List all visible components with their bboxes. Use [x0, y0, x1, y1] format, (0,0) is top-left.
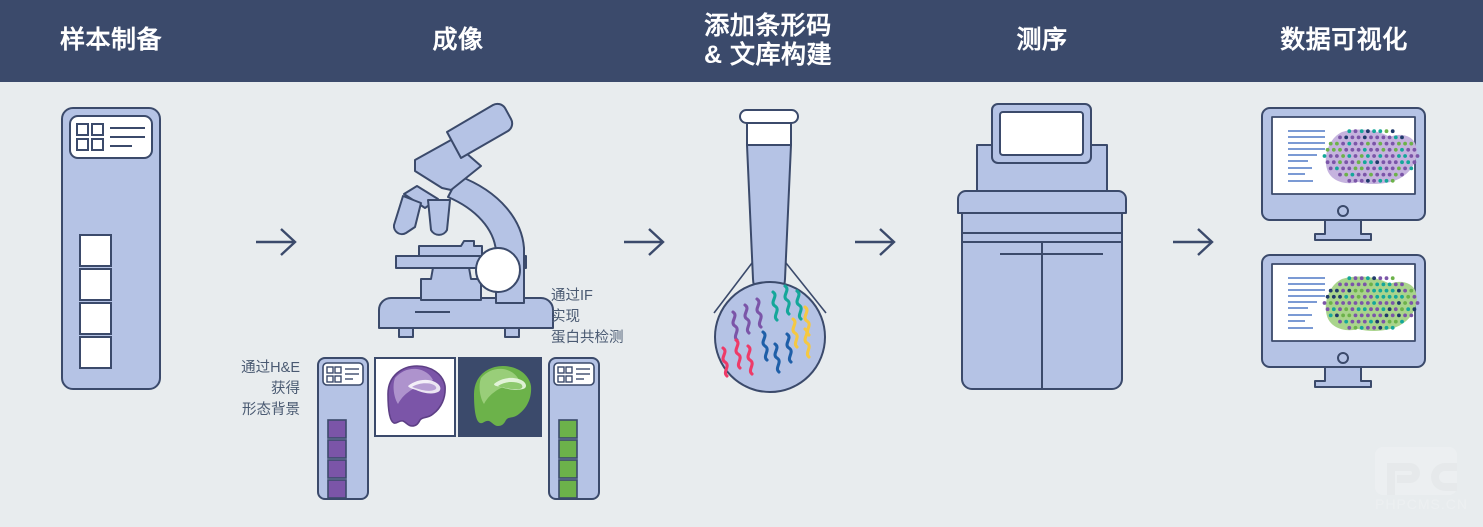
spatial-dot [1341, 154, 1345, 158]
spatial-dot [1372, 289, 1376, 293]
capture-area [80, 303, 111, 334]
spatial-dot [1354, 314, 1358, 318]
spatial-dot [1375, 148, 1379, 152]
spatial-dot [1394, 307, 1398, 311]
capture-area [328, 420, 346, 438]
spatial-dot [1338, 320, 1342, 324]
spatial-dot [1382, 283, 1386, 287]
spatial-dot [1354, 326, 1358, 330]
spatial-dot [1400, 136, 1404, 140]
spatial-dot [1413, 148, 1417, 152]
spatial-dot [1394, 173, 1398, 177]
spatial-dot [1341, 289, 1345, 293]
spatial-dot [1344, 173, 1348, 177]
spatial-dot [1335, 301, 1339, 305]
spatial-dot [1369, 295, 1373, 299]
spatial-dot [1385, 276, 1389, 280]
spatial-dot [1347, 129, 1351, 133]
spatial-dot [1354, 301, 1358, 305]
spatial-dot [1347, 167, 1351, 171]
spatial-dot [1351, 307, 1355, 311]
spatial-dot [1382, 295, 1386, 299]
spatial-dot [1409, 167, 1413, 171]
watermark-text: PHPCMS.CN [1375, 496, 1468, 512]
if-tissue-image [459, 358, 541, 436]
spatial-dot [1416, 154, 1420, 158]
spatial-dot [1354, 289, 1358, 293]
spatial-dot [1394, 283, 1398, 287]
monitor-top [1262, 108, 1425, 240]
spatial-dot [1326, 148, 1330, 152]
spatial-dot [1369, 136, 1373, 140]
spatial-dot [1375, 307, 1379, 311]
spatial-dot [1338, 160, 1342, 164]
spatial-dot [1329, 167, 1333, 171]
spatial-dot [1378, 167, 1382, 171]
spatial-dot [1409, 289, 1413, 293]
spatial-dot [1357, 320, 1361, 324]
spatial-dot [1406, 295, 1410, 299]
spatial-dot [1403, 289, 1407, 293]
spatial-dot [1366, 301, 1370, 305]
spatial-dot [1366, 167, 1370, 171]
spatial-dot [1363, 136, 1367, 140]
spatial-dot [1363, 148, 1367, 152]
spatial-dot [1378, 301, 1382, 305]
spatial-dot [1351, 136, 1355, 140]
spatial-dot [1347, 179, 1351, 183]
spatial-dot [1347, 154, 1351, 158]
arrow-4 [1173, 229, 1212, 255]
spatial-dot [1391, 289, 1395, 293]
spatial-dot [1344, 307, 1348, 311]
spatial-dot [1341, 301, 1345, 305]
spatial-dot [1382, 307, 1386, 311]
spatial-dot [1369, 148, 1373, 152]
spatial-dot [1329, 142, 1333, 146]
spatial-dot [1323, 301, 1327, 305]
spatial-dot [1366, 154, 1370, 158]
spatial-dot [1335, 289, 1339, 293]
spatial-dot [1344, 295, 1348, 299]
spatial-dot [1354, 154, 1358, 158]
spatial-dot [1372, 326, 1376, 330]
spatial-dot [1357, 173, 1361, 177]
spatial-dot [1416, 301, 1420, 305]
spatial-dot [1344, 148, 1348, 152]
spatial-dot [1400, 295, 1404, 299]
spatial-dot [1388, 307, 1392, 311]
microscope-icon [379, 104, 553, 337]
he-note: 通过H&E 获得 形态背景 [180, 358, 300, 421]
spatial-dot [1403, 167, 1407, 171]
spatial-dot [1366, 129, 1370, 133]
spatial-dot [1360, 179, 1364, 183]
spatial-dot [1341, 142, 1345, 146]
spatial-dot [1338, 295, 1342, 299]
spatial-dot [1326, 295, 1330, 299]
spatial-dot [1409, 142, 1413, 146]
spatial-dot [1338, 283, 1342, 287]
spatial-dot [1409, 154, 1413, 158]
spatial-dot [1394, 148, 1398, 152]
spatial-dot [1391, 167, 1395, 171]
watermark: PHPCMS.CN [1342, 443, 1475, 523]
spatial-dot [1372, 301, 1376, 305]
spatial-dot [1391, 129, 1395, 133]
diagram-canvas [0, 0, 1483, 527]
spatial-dot [1385, 289, 1389, 293]
capture-area [559, 420, 577, 438]
spatial-dot [1338, 136, 1342, 140]
spatial-dot [1329, 289, 1333, 293]
spatial-dot [1372, 154, 1376, 158]
spatial-dot [1332, 307, 1336, 311]
spatial-dot [1372, 276, 1376, 280]
spatial-dot [1413, 160, 1417, 164]
spatial-dot [1357, 136, 1361, 140]
spatial-dot [1391, 326, 1395, 330]
spatial-dot [1385, 314, 1389, 318]
capture-area [559, 440, 577, 458]
sequencer-instrument-icon [958, 104, 1126, 389]
spatial-dot [1400, 160, 1404, 164]
spatial-dot [1369, 160, 1373, 164]
arrow-2 [624, 229, 663, 255]
spatial-dot [1326, 160, 1330, 164]
spatial-dot [1388, 173, 1392, 177]
spatial-dot [1382, 148, 1386, 152]
spatial-dot [1326, 307, 1330, 311]
spatial-dot [1406, 307, 1410, 311]
spatial-dot [1360, 276, 1364, 280]
spatial-dot [1397, 289, 1401, 293]
spatial-dot [1338, 173, 1342, 177]
spatial-dot [1394, 320, 1398, 324]
spatial-dot [1338, 148, 1342, 152]
spatial-dot [1341, 167, 1345, 171]
if-slide [549, 358, 599, 499]
he-slide [318, 358, 368, 499]
spatial-dot [1363, 320, 1367, 324]
spatial-dot [1351, 148, 1355, 152]
spatial-dot [1409, 314, 1413, 318]
spatial-dot [1335, 154, 1339, 158]
spatial-dot [1372, 167, 1376, 171]
spatial-dot [1335, 142, 1339, 146]
spatial-dot [1360, 289, 1364, 293]
arrow-3 [855, 229, 894, 255]
spatial-dot [1372, 314, 1376, 318]
spatial-dot [1332, 148, 1336, 152]
spatial-dot [1378, 326, 1382, 330]
spatial-dot [1338, 307, 1342, 311]
spatial-dot [1351, 295, 1355, 299]
capture-area [559, 480, 577, 498]
spatial-dot [1360, 129, 1364, 133]
capture-area [80, 337, 111, 368]
spatial-dot [1329, 314, 1333, 318]
spatial-dot [1400, 320, 1404, 324]
spatial-dot [1391, 154, 1395, 158]
capture-area [328, 460, 346, 478]
spatial-dot [1403, 301, 1407, 305]
spatial-dot [1363, 295, 1367, 299]
spatial-dot [1413, 307, 1417, 311]
if-note: 通过IF 实现 蛋白共检测 [551, 286, 681, 349]
spatial-dot [1382, 320, 1386, 324]
spatial-dot [1351, 160, 1355, 164]
spatial-dot [1375, 320, 1379, 324]
spatial-dot [1397, 167, 1401, 171]
spatial-dot [1400, 283, 1404, 287]
capture-area [80, 269, 111, 300]
spatial-dot [1388, 160, 1392, 164]
spatial-dot [1400, 173, 1404, 177]
spatial-dot [1366, 326, 1370, 330]
spatial-dot [1360, 314, 1364, 318]
spatial-dot [1329, 301, 1333, 305]
spatial-dot [1378, 129, 1382, 133]
spatial-dot [1400, 148, 1404, 152]
spatial-dot [1366, 179, 1370, 183]
spatial-dot [1388, 320, 1392, 324]
microscope-slide [62, 108, 160, 389]
spatial-dot [1347, 301, 1351, 305]
spatial-dot [1369, 320, 1373, 324]
spatial-dot [1406, 160, 1410, 164]
spatial-dot [1369, 307, 1373, 311]
spatial-dot [1375, 295, 1379, 299]
he-tissue-image [375, 358, 455, 436]
spatial-dot [1351, 320, 1355, 324]
arrow-1 [256, 229, 295, 255]
spatial-dot [1335, 167, 1339, 171]
spatial-dot [1369, 283, 1373, 287]
spatial-dot [1378, 142, 1382, 146]
spatial-dot [1388, 283, 1392, 287]
spatial-dot [1388, 295, 1392, 299]
spatial-dot [1382, 160, 1386, 164]
workflow-diagram: 样本制备 成像 添加条形码 & 文库构建 测序 数据可视化 [0, 0, 1483, 527]
spatial-dot [1341, 314, 1345, 318]
spatial-dot [1403, 142, 1407, 146]
capture-area [80, 235, 111, 266]
spatial-dot [1360, 154, 1364, 158]
spatial-dot [1344, 283, 1348, 287]
spatial-dot [1344, 136, 1348, 140]
spatial-dot [1385, 179, 1389, 183]
spatial-dot [1351, 283, 1355, 287]
spatial-dot [1391, 179, 1395, 183]
spatial-dot [1360, 301, 1364, 305]
spatial-dot [1378, 154, 1382, 158]
spatial-dot [1406, 148, 1410, 152]
spatial-dot [1372, 129, 1376, 133]
spatial-dot [1375, 173, 1379, 177]
spatial-dot [1403, 314, 1407, 318]
spatial-dot [1385, 167, 1389, 171]
spatial-dot [1354, 167, 1358, 171]
spatial-dot [1385, 326, 1389, 330]
spatial-dot [1394, 136, 1398, 140]
spatial-dot [1394, 160, 1398, 164]
spatial-dot [1360, 326, 1364, 330]
spatial-dot [1366, 289, 1370, 293]
spatial-dot [1375, 160, 1379, 164]
spatial-dot [1344, 320, 1348, 324]
spatial-dot [1329, 154, 1333, 158]
spatial-dot [1372, 179, 1376, 183]
spatial-dot [1363, 307, 1367, 311]
capture-area [328, 480, 346, 498]
spatial-dot [1388, 148, 1392, 152]
spatial-dot [1391, 301, 1395, 305]
spatial-dot [1400, 307, 1404, 311]
spatial-dot [1388, 136, 1392, 140]
spatial-dot [1347, 289, 1351, 293]
spatial-dot [1347, 276, 1351, 280]
spatial-dot [1378, 179, 1382, 183]
spatial-dot [1354, 179, 1358, 183]
spatial-dot [1332, 160, 1336, 164]
spatial-dot [1375, 136, 1379, 140]
spatial-dot [1397, 301, 1401, 305]
spatial-dot [1354, 129, 1358, 133]
spatial-dot [1360, 142, 1364, 146]
spatial-dot [1397, 142, 1401, 146]
spatial-dot [1378, 276, 1382, 280]
spatial-dot [1413, 295, 1417, 299]
spatial-dot [1369, 173, 1373, 177]
capture-area [559, 460, 577, 478]
spatial-dot [1366, 276, 1370, 280]
spatial-dot [1391, 142, 1395, 146]
spatial-dot [1385, 142, 1389, 146]
spatial-dot [1357, 160, 1361, 164]
spatial-dot [1385, 301, 1389, 305]
spatial-dot [1375, 283, 1379, 287]
spatial-dot [1357, 283, 1361, 287]
spatial-dot [1391, 314, 1395, 318]
spatial-dot [1366, 314, 1370, 318]
spatial-dot [1363, 160, 1367, 164]
spatial-dot [1394, 295, 1398, 299]
spatial-dot [1378, 314, 1382, 318]
spatial-dot [1347, 142, 1351, 146]
monitor-bottom [1262, 255, 1425, 387]
spatial-dot [1357, 295, 1361, 299]
spatial-dot [1363, 283, 1367, 287]
spatial-dot [1366, 142, 1370, 146]
spatial-dot [1397, 154, 1401, 158]
spatial-dot [1409, 301, 1413, 305]
spatial-dot [1357, 148, 1361, 152]
spatial-dot [1332, 295, 1336, 299]
spatial-dot [1360, 167, 1364, 171]
spatial-dot [1403, 154, 1407, 158]
spatial-dot [1354, 142, 1358, 146]
spatial-dot [1354, 276, 1358, 280]
spatial-dot [1335, 314, 1339, 318]
spatial-dot [1372, 142, 1376, 146]
spatial-dot [1382, 136, 1386, 140]
spatial-dot [1323, 154, 1327, 158]
spatial-dot [1363, 173, 1367, 177]
spatial-dot [1344, 160, 1348, 164]
spatial-dot [1351, 173, 1355, 177]
spatial-dot [1391, 276, 1395, 280]
spatial-dot [1347, 314, 1351, 318]
spatial-dot [1382, 173, 1386, 177]
spatial-dot [1385, 129, 1389, 133]
spatial-dot [1357, 307, 1361, 311]
spatial-dot [1385, 154, 1389, 158]
spatial-dot [1397, 314, 1401, 318]
capture-area [328, 440, 346, 458]
spatial-dot [1378, 289, 1382, 293]
spatial-dot [1347, 326, 1351, 330]
